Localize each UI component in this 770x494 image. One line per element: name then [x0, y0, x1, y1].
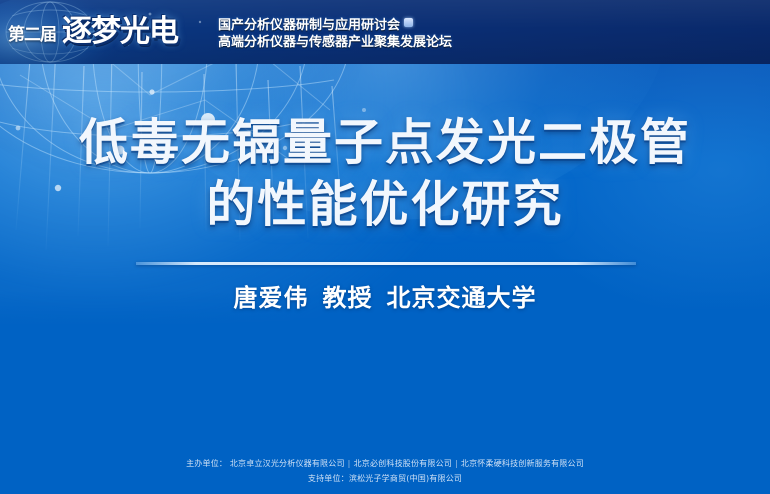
event-subtitle-text-1: 国产分析仪器研制与应用研讨会 — [218, 18, 400, 33]
title-divider — [136, 262, 636, 265]
footer-supporters: 支持单位：滨松光子学商贸(中国)有限公司 — [0, 471, 770, 486]
speaker-rank: 教授 — [323, 284, 373, 312]
presentation-title: 低毒无镉量子点发光二极管 的性能优化研究 — [0, 112, 770, 236]
supporter-1: 滨松光子学商贸(中国)有限公司 — [349, 474, 462, 483]
title-line-2: 的性能优化研究 — [0, 174, 770, 236]
speaker-affiliation: 北京交通大学 — [387, 284, 537, 312]
organizer-label: 主办单位： — [186, 459, 227, 468]
event-subtitle-line-2: 高端分析仪器与传感器产业聚集发展论坛 — [218, 35, 452, 52]
supporter-label: 支持单位： — [308, 474, 349, 483]
organizer-3: 北京怀柔硬科技创新服务有限公司 — [461, 459, 584, 468]
brand-prefix: 第二届 — [8, 27, 56, 47]
brand-name: 逐梦光电 — [62, 17, 178, 47]
diamond-badge-icon — [404, 18, 413, 27]
footer-organizers: 主办单位： 北京卓立汉光分析仪器有限公司|北京必创科技股份有限公司|北京怀柔硬科… — [0, 456, 770, 471]
event-brand-logo: 第二届 逐梦光电 — [8, 17, 178, 47]
event-subtitle-text-2: 高端分析仪器与传感器产业聚集发展论坛 — [218, 35, 452, 50]
speaker-name: 唐爱伟 — [234, 284, 309, 312]
speaker-line: 唐爱伟教授北京交通大学 — [0, 278, 770, 313]
title-line-1: 低毒无镉量子点发光二极管 — [0, 112, 770, 174]
footer-credits: 主办单位： 北京卓立汉光分析仪器有限公司|北京必创科技股份有限公司|北京怀柔硬科… — [0, 456, 770, 486]
event-subtitle-line-1: 国产分析仪器研制与应用研讨会 — [218, 18, 452, 35]
footer-separator: | — [345, 459, 354, 468]
presentation-title-slide: 第二届 逐梦光电 国产分析仪器研制与应用研讨会 高端分析仪器与传感器产业聚集发展… — [0, 0, 770, 494]
organizer-2: 北京必创科技股份有限公司 — [354, 459, 452, 468]
event-subtitle-block: 国产分析仪器研制与应用研讨会 高端分析仪器与传感器产业聚集发展论坛 — [218, 18, 452, 51]
event-header-banner: 第二届 逐梦光电 国产分析仪器研制与应用研讨会 高端分析仪器与传感器产业聚集发展… — [0, 0, 770, 64]
footer-separator: | — [452, 459, 461, 468]
organizer-1: 北京卓立汉光分析仪器有限公司 — [230, 459, 345, 468]
